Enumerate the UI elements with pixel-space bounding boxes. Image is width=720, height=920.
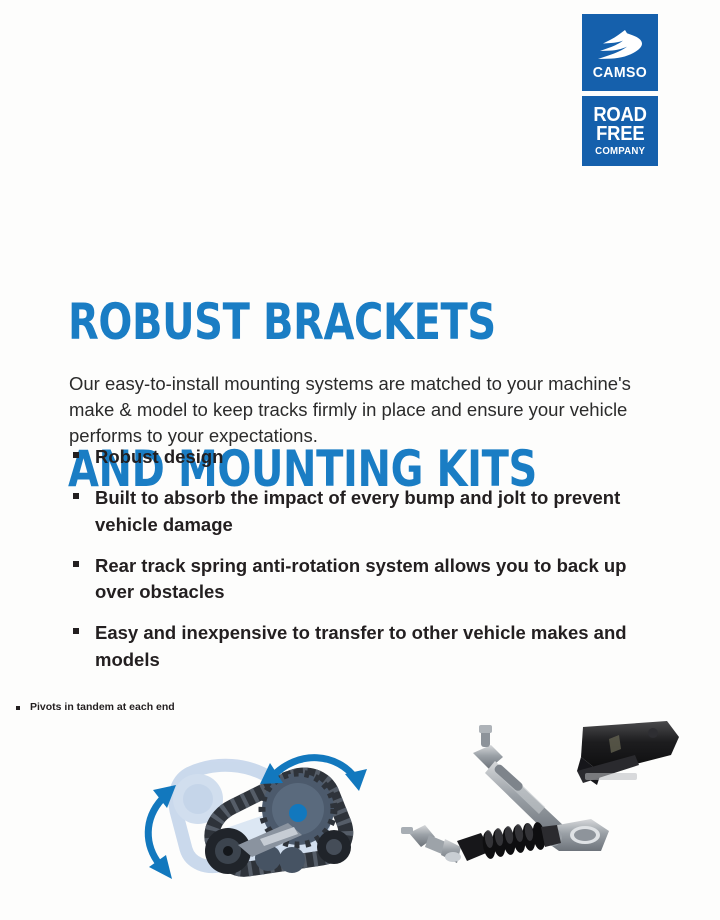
mounting-hardware-photo — [395, 715, 695, 890]
camso-wordmark: CAMSO — [593, 65, 647, 80]
spring-damper — [401, 821, 561, 863]
list-item-label: Easy and inexpensive to transfer to othe… — [95, 622, 627, 669]
track-system-pivot-diagram — [120, 727, 380, 897]
square-bullet-icon — [73, 628, 79, 634]
square-bullet-icon — [16, 706, 20, 710]
camso-logo-stack: CAMSO ROAD FREE COMPANY — [582, 14, 658, 166]
list-item: Built to absorb the impact of every bump… — [69, 485, 629, 538]
tagline-company: COMPANY — [595, 146, 645, 156]
square-bullet-icon — [73, 493, 79, 499]
list-item-label: Built to absorb the impact of every bump… — [95, 487, 620, 534]
camso-brand-box: CAMSO — [582, 14, 658, 91]
mid-roller — [279, 847, 305, 873]
footnote: Pivots in tandem at each end — [16, 701, 175, 713]
figure-row — [0, 715, 720, 900]
tagline-free: FREE — [596, 125, 644, 144]
black-mounting-bracket — [577, 721, 679, 785]
list-item-label: Rear track spring anti-rotation system a… — [95, 555, 627, 602]
list-item-label: Robust design — [95, 446, 223, 467]
rotation-arrow-left — [148, 799, 162, 865]
intro-paragraph: Our easy-to-install mounting systems are… — [69, 371, 635, 450]
square-bullet-icon — [73, 452, 79, 458]
road-free-company-box: ROAD FREE COMPANY — [582, 96, 658, 166]
list-item: Rear track spring anti-rotation system a… — [69, 553, 629, 606]
feature-bullet-list: Robust design Built to absorb the impact… — [69, 444, 629, 688]
square-bullet-icon — [73, 561, 79, 567]
list-item: Easy and inexpensive to transfer to othe… — [69, 620, 629, 673]
camso-mountain-mark — [597, 28, 643, 62]
footnote-label: Pivots in tandem at each end — [30, 701, 175, 713]
pivot-hub — [289, 804, 307, 822]
page-title-line1: ROBUST BRACKETS — [68, 298, 537, 347]
list-item: Robust design — [69, 444, 629, 470]
